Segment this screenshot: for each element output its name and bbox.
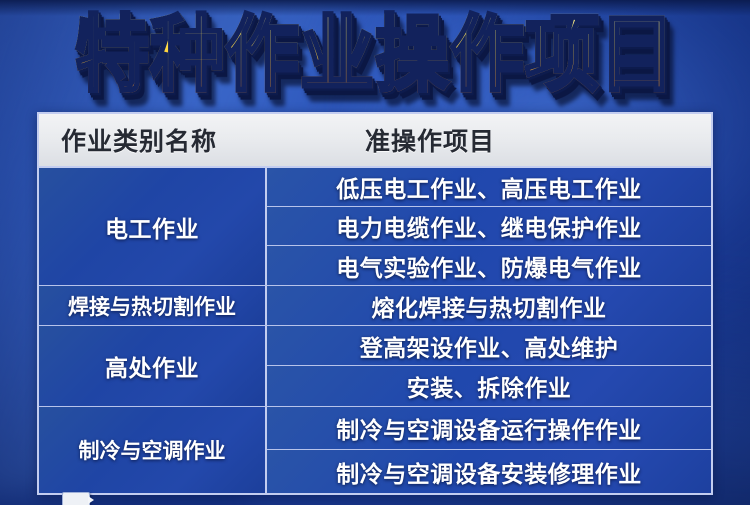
category-cell: 制冷与空调作业 [39,407,267,493]
list-item: 登高架设作业、高处维护 [267,326,711,366]
item-label: 制冷与空调设备运行操作作业 [336,411,642,445]
item-label: 低压电工作业、高压电工作业 [336,170,642,204]
cursor-fragment-icon [62,492,90,505]
item-label: 熔化焊接与热切割作业 [372,289,607,323]
item-label: 安装、拆除作业 [407,369,572,403]
category-label: 高处作业 [105,349,199,383]
table-row: 焊接与热切割作业 熔化焊接与热切割作业 [39,286,711,326]
items-cell: 低压电工作业、高压电工作业 电力电缆作业、继电保护作业 电气实验作业、防爆电气作… [267,168,711,285]
items-cell: 登高架设作业、高处维护 安装、拆除作业 [267,326,711,406]
item-label: 登高架设作业、高处维护 [360,329,619,363]
items-cell: 制冷与空调设备运行操作作业 制冷与空调设备安装修理作业 [267,407,711,493]
list-item: 制冷与空调设备安装修理作业 [267,450,711,493]
table-row: 高处作业 登高架设作业、高处维护 安装、拆除作业 [39,326,711,407]
list-item: 制冷与空调设备运行操作作业 [267,407,711,450]
items-cell: 熔化焊接与热切割作业 [267,286,711,325]
header-cell-items: 准操作项目 [267,114,711,166]
category-cell: 高处作业 [39,326,267,406]
category-cell: 电工作业 [39,168,267,285]
table-row: 制冷与空调作业 制冷与空调设备运行操作作业 制冷与空调设备安装修理作业 [39,407,711,493]
category-label: 焊接与热切割作业 [68,291,236,321]
item-label: 电气实验作业、防爆电气作业 [336,249,642,283]
category-cell: 焊接与热切割作业 [39,286,267,325]
list-item: 熔化焊接与热切割作业 [267,286,711,325]
category-label: 制冷与空调作业 [79,435,226,465]
poster-root: 特种作业操作项目 作业类别名称 准操作项目 电工作业 低压电工作业、高压电工作业… [0,0,750,505]
item-label: 制冷与空调设备安装修理作业 [336,455,642,489]
list-item: 安装、拆除作业 [267,366,711,406]
operations-table: 作业类别名称 准操作项目 电工作业 低压电工作业、高压电工作业 电力电缆作业、继… [37,112,713,495]
table-header-row: 作业类别名称 准操作项目 [39,114,711,168]
title-area: 特种作业操作项目 [0,4,750,106]
list-item: 低压电工作业、高压电工作业 [267,168,711,207]
list-item: 电气实验作业、防爆电气作业 [267,246,711,285]
page-title: 特种作业操作项目 [75,14,675,97]
header-cell-category: 作业类别名称 [39,114,267,166]
header-label-category: 作业类别名称 [61,122,217,158]
category-label: 电工作业 [105,210,199,244]
item-label: 电力电缆作业、继电保护作业 [336,209,642,243]
table-row: 电工作业 低压电工作业、高压电工作业 电力电缆作业、继电保护作业 电气实验作业、… [39,168,711,286]
header-label-items: 准操作项目 [365,122,495,158]
list-item: 电力电缆作业、继电保护作业 [267,207,711,246]
